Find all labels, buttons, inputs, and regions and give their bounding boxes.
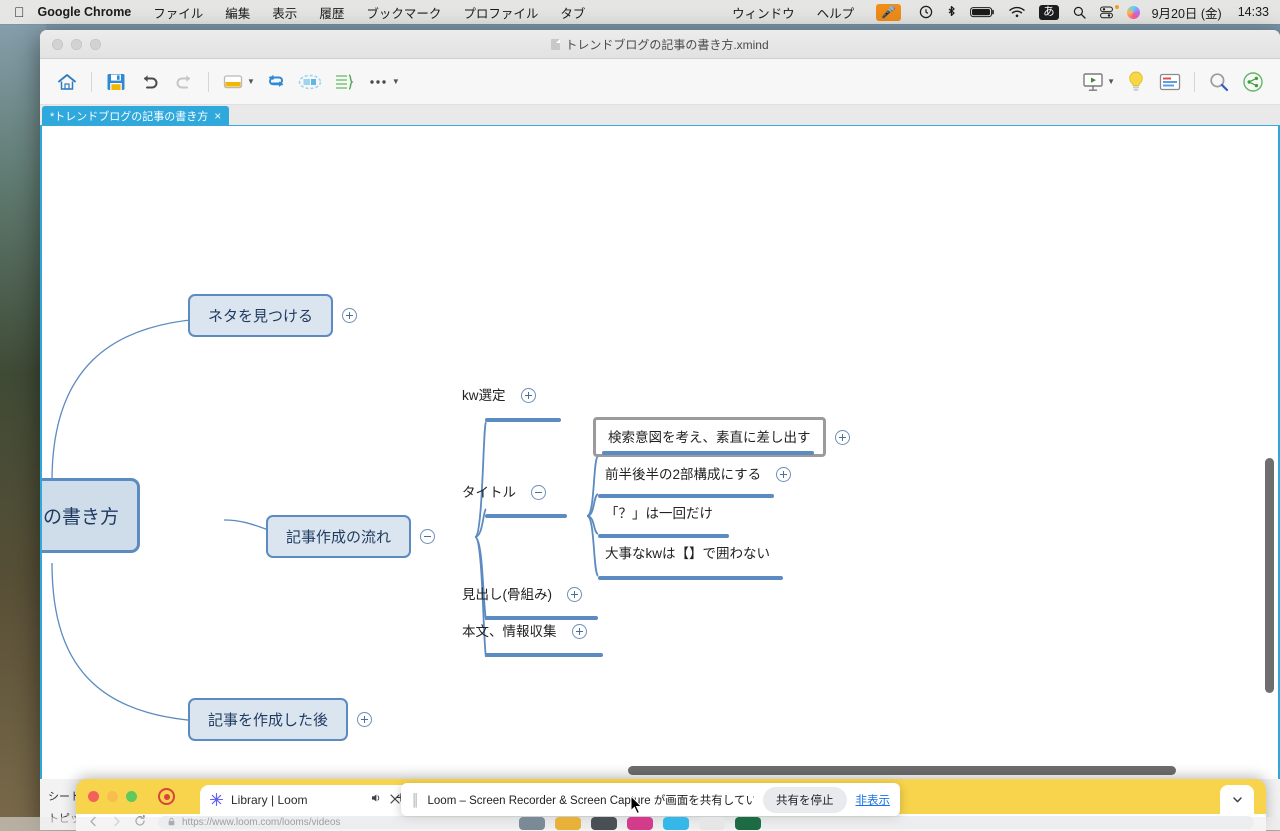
mindmap-node-two-part[interactable]: 前半後半の2部構成にする: [599, 461, 791, 487]
node-label[interactable]: 記事作成の流れ: [266, 515, 411, 558]
node-underline: [485, 653, 603, 657]
bluetooth-icon[interactable]: [940, 5, 963, 20]
menu-item-tab[interactable]: タブ: [549, 3, 596, 22]
screen-record-icon[interactable]: [912, 5, 940, 19]
presentation-dropdown-caret[interactable]: ▼: [1107, 77, 1115, 86]
stop-sharing-button[interactable]: 共有を停止: [763, 787, 847, 813]
chrome-maximize-button[interactable]: [126, 791, 137, 802]
siri-icon[interactable]: [1120, 6, 1147, 19]
battery-icon[interactable]: [963, 6, 1002, 18]
node-label[interactable]: タイトル: [456, 479, 522, 505]
menu-item-help[interactable]: ヘルプ: [806, 3, 866, 22]
node-label[interactable]: 見出し(骨組み): [456, 581, 558, 607]
expand-toggle-icon[interactable]: [835, 430, 850, 445]
share-icon[interactable]: [1236, 65, 1270, 99]
dock-icon-mail[interactable]: [591, 817, 617, 830]
input-source-icon[interactable]: あ: [1032, 5, 1066, 20]
chrome-tab-loom[interactable]: Library | Loom: [200, 785, 410, 814]
spotlight-search-icon[interactable]: [1066, 6, 1093, 19]
mindmap-node-body-research[interactable]: 本文、情報収集: [456, 618, 587, 644]
node-label[interactable]: 記事を作成した後: [188, 698, 348, 741]
node-label[interactable]: 本文、情報収集: [456, 618, 563, 644]
collapse-toggle-icon[interactable]: [420, 529, 435, 544]
menu-item-file[interactable]: ファイル: [142, 3, 214, 22]
toolbar-separator-3: [1194, 72, 1195, 92]
more-dropdown-caret[interactable]: ▼: [392, 77, 400, 86]
mindmap-node-kw-selection[interactable]: kw選定: [456, 382, 536, 408]
microphone-icon[interactable]: 🎤: [865, 4, 912, 21]
dock-icon-notes[interactable]: [699, 817, 725, 830]
window-title-text: トレンドブログの記事の書き方.xmind: [565, 36, 768, 53]
minimize-window-button[interactable]: [71, 39, 82, 50]
wifi-icon[interactable]: [1002, 6, 1032, 18]
expand-toggle-icon[interactable]: [521, 388, 536, 403]
xmind-tab-label: *トレンドブログの記事の書き方: [50, 108, 208, 124]
collapse-toggle-icon[interactable]: [531, 485, 546, 500]
xmind-title-bar: トレンドブログの記事の書き方.xmind: [40, 30, 1280, 59]
window-traffic-lights[interactable]: [40, 39, 101, 50]
close-icon[interactable]: ×: [214, 109, 221, 123]
expand-toggle-icon[interactable]: [357, 712, 372, 727]
xmind-toolbar: ▼ ▼ ▼: [40, 59, 1280, 105]
recording-indicator-icon[interactable]: [158, 788, 175, 805]
toolbar-separator: [91, 72, 92, 92]
canvas-horizontal-scrollbar[interactable]: [42, 766, 1274, 775]
node-label[interactable]: ネタを見つける: [188, 294, 333, 337]
dock-icon-xmind[interactable]: [735, 817, 761, 830]
mindmap-root-container: の書き方 ネタを見つける 記事作成の流れ 記事を作成した後 kw選定: [42, 126, 1278, 779]
node-underline: [598, 576, 783, 580]
drag-handle-icon[interactable]: ║: [411, 793, 419, 807]
dock-icon-messages[interactable]: [663, 817, 689, 830]
brainstorm-icon[interactable]: [1119, 65, 1153, 99]
mindmap-node-find-topic[interactable]: ネタを見つける: [188, 294, 357, 337]
node-underline: [598, 534, 729, 538]
maximize-window-button[interactable]: [90, 39, 101, 50]
mindmap-canvas[interactable]: の書き方 ネタを見つける 記事作成の流れ 記事を作成した後 kw選定: [40, 126, 1280, 779]
home-icon[interactable]: [50, 65, 84, 99]
mindmap-root-node[interactable]: の書き方: [40, 478, 140, 553]
expand-toggle-icon[interactable]: [342, 308, 357, 323]
screen-share-message: Loom – Screen Recorder & Screen Capture …: [428, 792, 754, 808]
more-icon[interactable]: [361, 65, 395, 99]
menu-item-view[interactable]: 表示: [261, 3, 308, 22]
summary-icon[interactable]: [327, 65, 361, 99]
hide-notification-link[interactable]: 非表示: [856, 792, 891, 808]
screen-share-notification: ║ Loom – Screen Recorder & Screen Captur…: [401, 783, 900, 816]
menu-item-bookmarks[interactable]: ブックマーク: [355, 3, 452, 22]
topic-icon[interactable]: [216, 65, 250, 99]
expand-toggle-icon[interactable]: [567, 587, 582, 602]
mindmap-node-headings[interactable]: 見出し(骨組み): [456, 581, 582, 607]
window-title: トレンドブログの記事の書き方.xmind: [40, 36, 1280, 53]
undo-icon[interactable]: [133, 65, 167, 99]
toolbar-separator-2: [208, 72, 209, 92]
node-label[interactable]: kw選定: [456, 382, 512, 408]
mouse-cursor: [630, 795, 643, 814]
audio-playing-icon[interactable]: [370, 792, 382, 807]
chrome-tab-title: Library | Loom: [231, 793, 362, 807]
close-window-button[interactable]: [52, 39, 63, 50]
xmind-window: トレンドブログの記事の書き方.xmind ▼: [40, 30, 1280, 830]
node-underline: [485, 418, 561, 422]
mindmap-node-title[interactable]: タイトル: [456, 479, 546, 505]
relationship-icon[interactable]: [259, 65, 293, 99]
control-center-icon[interactable]: [1093, 6, 1120, 19]
node-label[interactable]: 「？」は一回だけ: [599, 500, 719, 526]
menubar-date[interactable]: 9月20日 (金): [1147, 3, 1233, 22]
root-node-label[interactable]: の書き方: [40, 478, 140, 553]
mindmap-node-one-question[interactable]: 「？」は一回だけ: [599, 500, 719, 526]
boundary-icon[interactable]: [293, 65, 327, 99]
loom-favicon: [210, 793, 223, 806]
menu-item-profile[interactable]: プロファイル: [452, 3, 549, 22]
chrome-traffic-lights[interactable]: [88, 791, 137, 802]
dock-icon-photos[interactable]: [627, 817, 653, 830]
node-underline: [602, 451, 814, 455]
menu-app-name[interactable]: Google Chrome: [38, 5, 143, 19]
mac-dock[interactable]: [0, 817, 1280, 831]
node-underline: [598, 494, 774, 498]
chevron-down-icon[interactable]: [1220, 785, 1254, 814]
chrome-minimize-button[interactable]: [107, 791, 118, 802]
expand-toggle-icon[interactable]: [572, 624, 587, 639]
canvas-vertical-scrollbar[interactable]: [1265, 148, 1274, 733]
menu-item-history[interactable]: 履歴: [308, 3, 355, 22]
node-underline: [485, 514, 567, 518]
dock-icon-launchpad[interactable]: [555, 817, 581, 830]
xmind-tab-active[interactable]: *トレンドブログの記事の書き方 ×: [42, 106, 229, 125]
presentation-icon[interactable]: [1076, 65, 1110, 99]
menubar-clock[interactable]: 14:33: [1233, 5, 1280, 19]
input-source-label: あ: [1039, 5, 1059, 20]
node-label[interactable]: 前半後半の2部構成にする: [599, 461, 767, 487]
save-icon[interactable]: [99, 65, 133, 99]
topic-dropdown-caret[interactable]: ▼: [247, 77, 255, 86]
chrome-close-button[interactable]: [88, 791, 99, 802]
document-icon: [551, 39, 560, 50]
node-label[interactable]: 大事なkwは【】で囲わない: [599, 540, 776, 566]
expand-toggle-icon[interactable]: [776, 467, 791, 482]
redo-icon: [167, 65, 201, 99]
mindmap-node-no-brackets[interactable]: 大事なkwは【】で囲わない: [599, 540, 776, 566]
xmind-sheet-tabs: *トレンドブログの記事の書き方 ×: [40, 105, 1280, 126]
zoom-search-icon[interactable]: [1202, 65, 1236, 99]
menu-item-edit[interactable]: 編集: [214, 3, 261, 22]
dock-icon-finder[interactable]: [519, 817, 545, 830]
mac-menu-bar:  Google Chrome ファイル 編集 表示 履歴 ブックマーク プロフ…: [0, 0, 1280, 24]
mindmap-node-writing-flow[interactable]: 記事作成の流れ: [266, 515, 435, 558]
style-panel-icon[interactable]: [1153, 65, 1187, 99]
apple-logo-icon[interactable]: : [0, 5, 38, 19]
menu-item-window[interactable]: ウィンドウ: [721, 3, 806, 22]
mindmap-node-after-writing[interactable]: 記事を作成した後: [188, 698, 372, 741]
